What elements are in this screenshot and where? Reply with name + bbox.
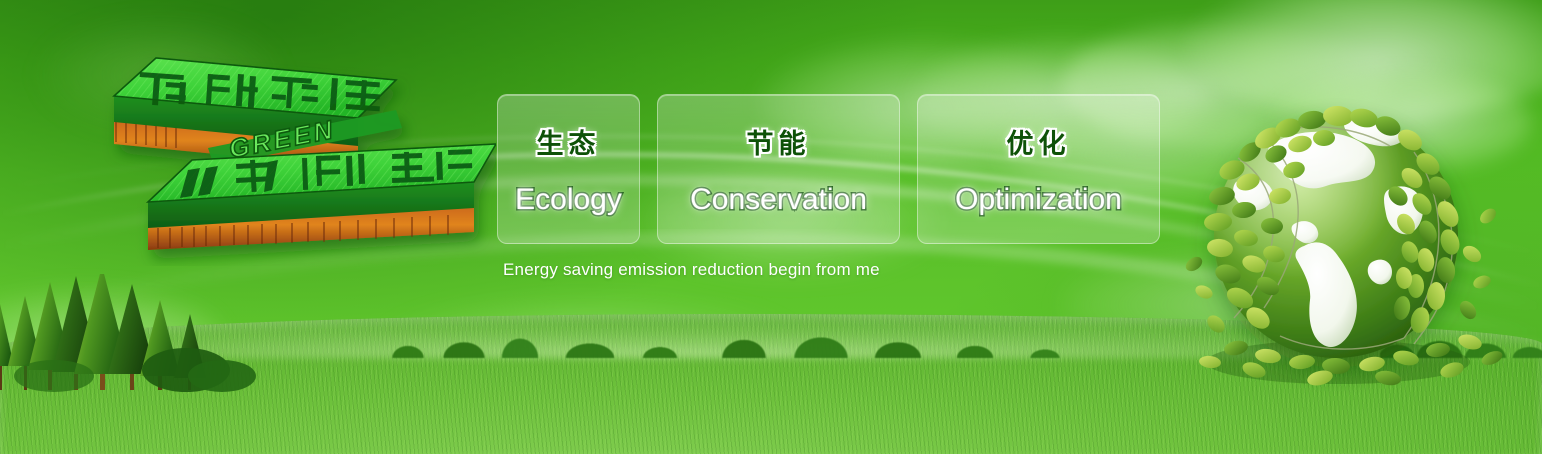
card-title-cn: 优化: [1007, 122, 1071, 161]
banner-tagline: Energy saving emission reduction begin f…: [503, 260, 880, 280]
headline-3d-artwork: GREEN: [96, 36, 496, 266]
card-title-cn: 节能: [747, 122, 811, 161]
feature-card-conservation[interactable]: 节能 Conservation: [657, 94, 900, 244]
feature-card-ecology[interactable]: 生态 Ecology: [497, 94, 640, 244]
cloud-right-lower: [1272, 70, 1532, 175]
cloud-left-haze: [40, 20, 280, 130]
card-title-en: Conservation: [690, 183, 867, 217]
eco-promo-banner: GREEN: [0, 0, 1542, 454]
card-title-cn: 生态: [537, 122, 601, 161]
card-title-en: Ecology: [515, 183, 622, 217]
svg-text:GREEN: GREEN: [226, 114, 337, 164]
cloud-top-right-near: [1182, 0, 1542, 120]
feature-card-optimization[interactable]: 优化 Optimization: [917, 94, 1160, 244]
card-title-en: Optimization: [955, 183, 1122, 217]
grass-field: [0, 314, 1542, 454]
feature-card-row: 生态 Ecology 节能 Conservation 优化 Optimizati…: [497, 94, 1160, 244]
